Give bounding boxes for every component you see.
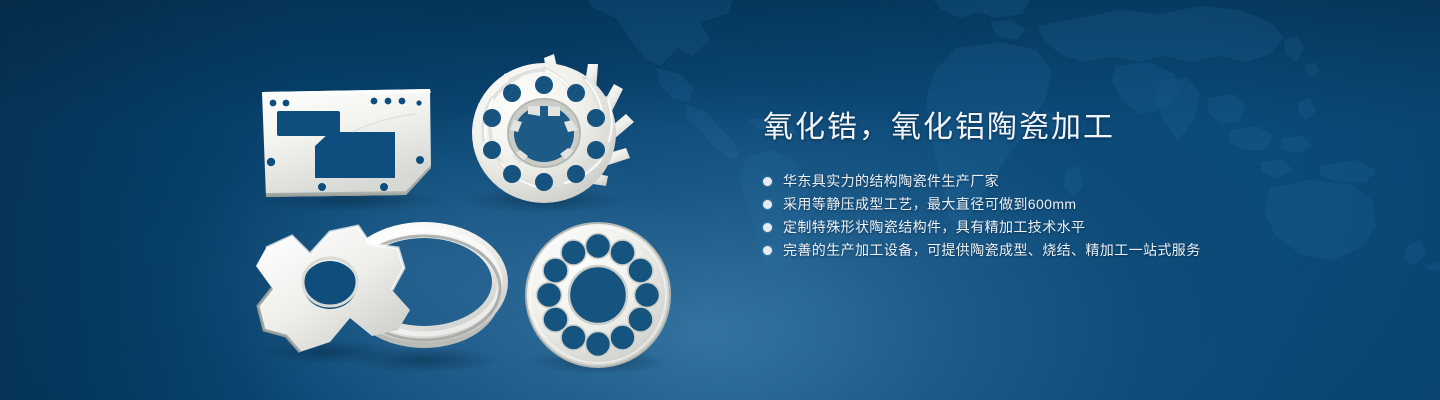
ceramic-perforated-disc (526, 223, 670, 374)
list-item-label: 完善的生产加工设备，可提供陶瓷成型、烧结、精加工一站式服务 (783, 239, 1201, 262)
page-title: 氧化锆，氧化铝陶瓷加工 (763, 108, 1303, 148)
list-item: 采用等静压成型工艺，最大直径可做到600mm (763, 193, 1303, 216)
banner-copy: 氧化锆，氧化铝陶瓷加工 华东具实力的结构陶瓷件生产厂家 采用等静压成型工艺，最大… (763, 108, 1303, 262)
list-item-label: 采用等静压成型工艺，最大直径可做到600mm (783, 193, 1076, 216)
list-item: 华东具实力的结构陶瓷件生产厂家 (763, 170, 1303, 193)
bullet-dot-icon (763, 246, 772, 255)
bullet-dot-icon (763, 177, 772, 186)
feature-list: 华东具实力的结构陶瓷件生产厂家 采用等静压成型工艺，最大直径可做到600mm 定… (763, 170, 1303, 262)
product-photo-cluster (0, 0, 760, 400)
list-item-label: 定制特殊形状陶瓷结构件，具有精加工技术水平 (783, 216, 1085, 239)
list-item: 完善的生产加工设备，可提供陶瓷成型、烧结、精加工一站式服务 (763, 239, 1303, 262)
ceramic-machined-plate (258, 89, 442, 212)
hero-banner: 氧化锆，氧化铝陶瓷加工 华东具实力的结构陶瓷件生产厂家 采用等静压成型工艺，最大… (0, 0, 1440, 400)
bullet-dot-icon (763, 200, 772, 209)
ceramic-impeller-rotor (464, 54, 634, 213)
list-item: 定制特殊形状陶瓷结构件，具有精加工技术水平 (763, 216, 1303, 239)
ceramic-cross-shaped-part (256, 226, 410, 364)
bullet-dot-icon (763, 223, 772, 232)
list-item-label: 华东具实力的结构陶瓷件生产厂家 (783, 170, 999, 193)
